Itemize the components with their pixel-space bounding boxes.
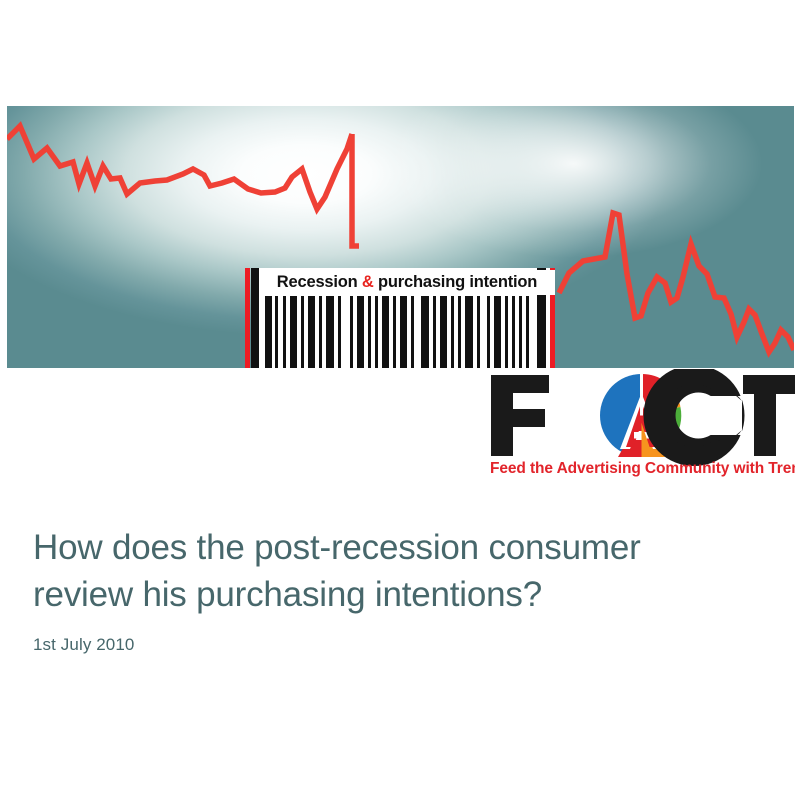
barcode-label: Recession & purchasing intention [259,270,555,295]
title-block: How does the post-recession consumer rev… [33,524,763,655]
barcode-label-text: Recession & purchasing intention [277,273,537,292]
page-title-line-1: How does the post-recession consumer [33,528,641,567]
fact-logo-svg: Feed the Advertising Community with Tren… [487,369,795,479]
logo-letter-c [649,374,742,457]
page-title: How does the post-recession consumer rev… [33,524,763,618]
barcode-label-ampersand: & [362,273,374,291]
logo-letter-t [743,375,795,456]
page-title-line-2: review his purchasing intentions? [33,575,542,614]
hero-banner-image: Recession & purchasing intention [7,106,794,368]
logo-tagline: Feed the Advertising Community with Tren… [490,460,795,477]
barcode-graphic: Recession & purchasing intention [245,268,560,368]
logo-letter-f [491,375,549,456]
presentation-date: 1st July 2010 [33,635,763,655]
fact-logo: Feed the Advertising Community with Tren… [487,369,795,479]
